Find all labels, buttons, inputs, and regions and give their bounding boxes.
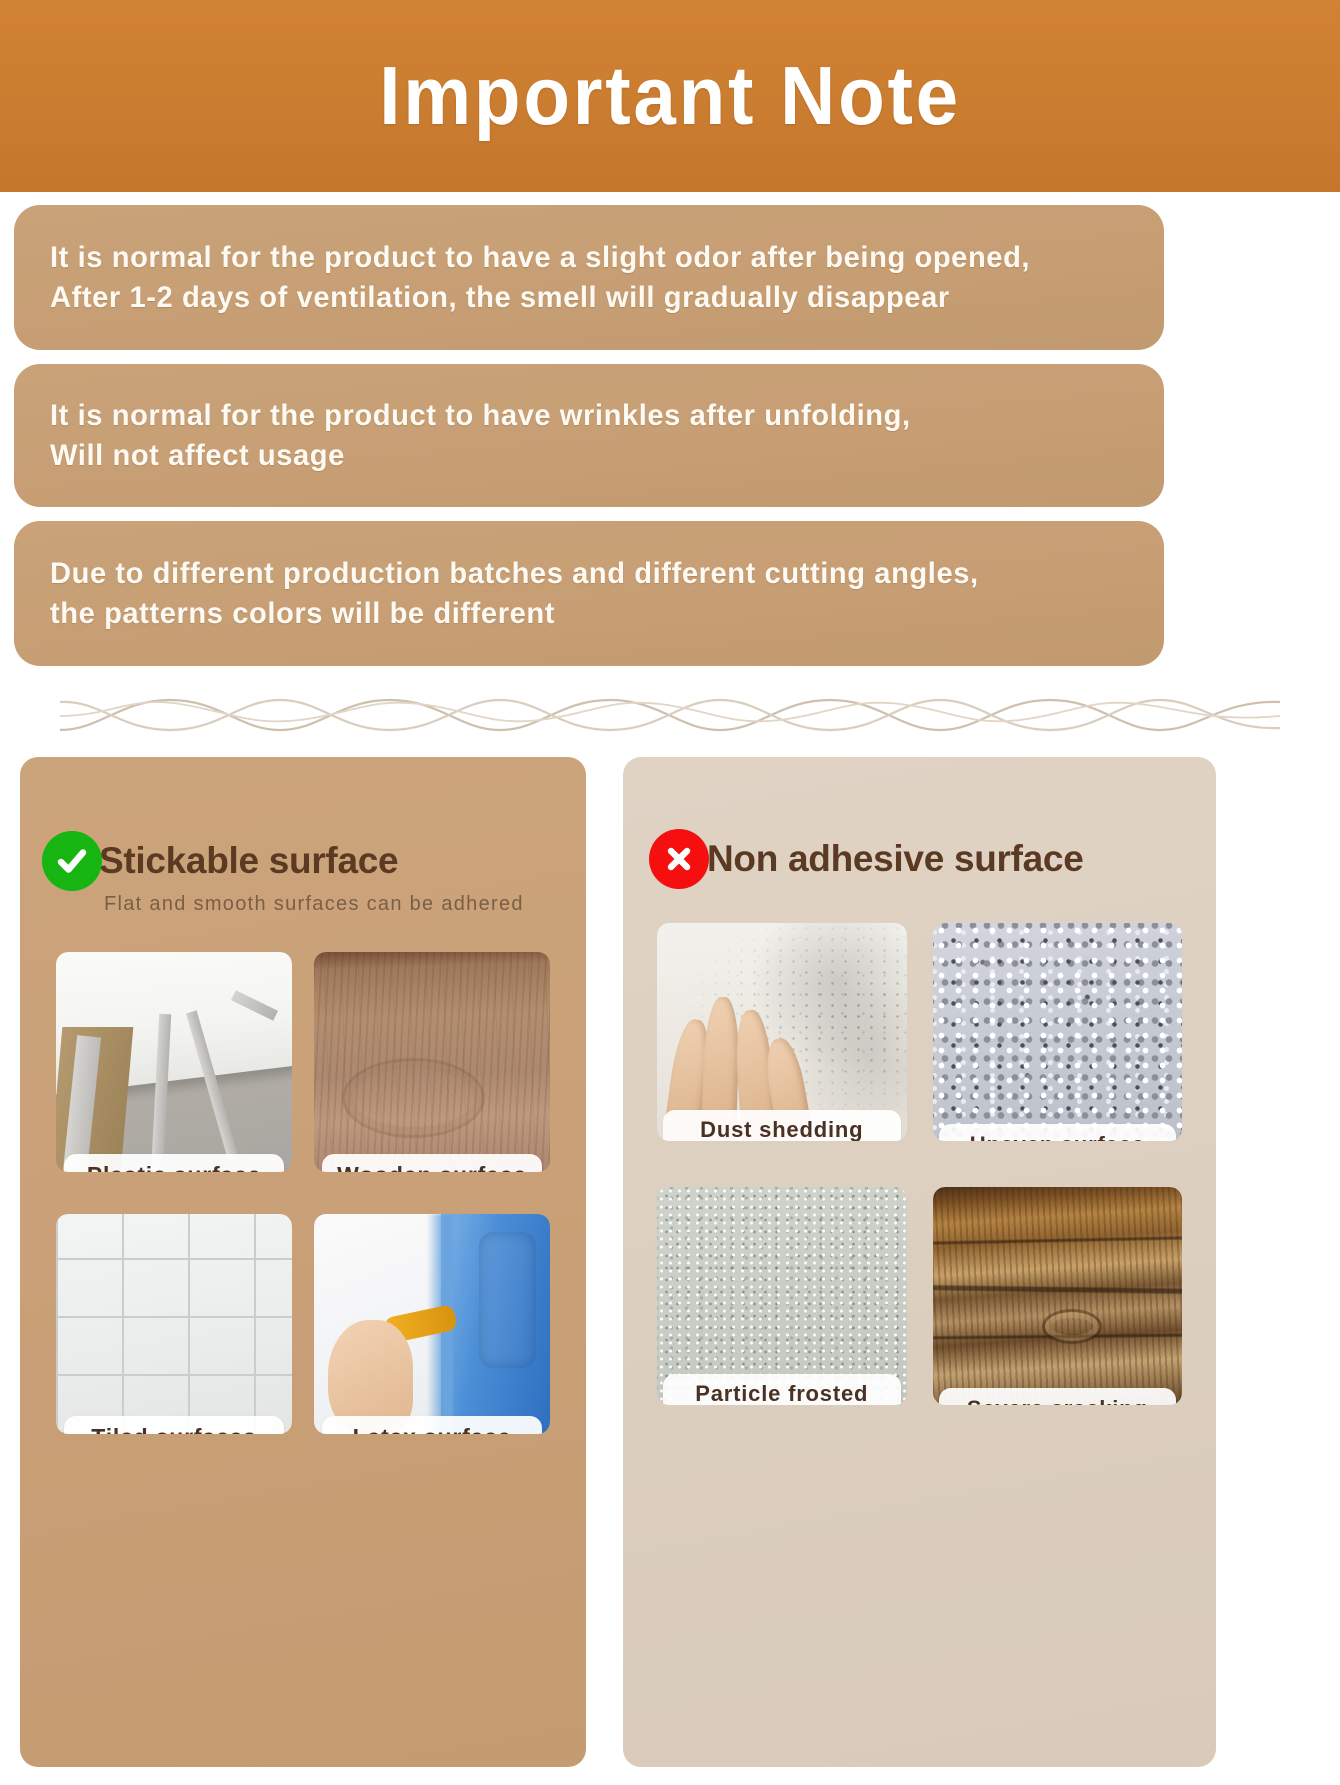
note-line: It is normal for the product to have a s… xyxy=(50,238,1098,278)
plastic-table-photo xyxy=(56,952,292,1172)
non-adhesive-panel-header: Non adhesive surface xyxy=(623,757,1216,889)
stickable-tile-grid: Plastic surface Wooden surface Tiled sur… xyxy=(20,916,586,1434)
non-adhesive-tile-grid: Dust shedding surface Uneven surface Par… xyxy=(623,889,1216,1405)
note-card: Due to different production batches and … xyxy=(14,521,1164,666)
surface-tile[interactable]: Dust shedding surface xyxy=(657,923,907,1141)
tile-label: Dust shedding surface xyxy=(663,1110,901,1141)
wood-grain-photo xyxy=(314,952,550,1172)
page-title: Important Note xyxy=(379,48,961,144)
note-line: It is normal for the product to have wri… xyxy=(50,396,1098,436)
dusty-wall-hand-photo xyxy=(657,923,907,1141)
cross-circle-icon xyxy=(649,829,709,889)
note-line: Due to different production batches and … xyxy=(50,554,1098,594)
cracked-wood-photo xyxy=(933,1187,1183,1405)
stickable-surface-panel: Stickable surface Flat and smooth surfac… xyxy=(20,757,586,1767)
surface-tile[interactable]: Latex surface xyxy=(314,1214,550,1434)
tile-label: Particle frosted surface xyxy=(663,1374,901,1405)
surface-tile[interactable]: Severe cracking xyxy=(933,1187,1183,1405)
note-card-list: It is normal for the product to have a s… xyxy=(14,205,1326,680)
important-note-page: Important Note It is normal for the prod… xyxy=(0,0,1340,1785)
non-adhesive-panel-title: Non adhesive surface xyxy=(707,838,1083,880)
stickable-panel-subtitle: Flat and smooth surfaces can be adhered xyxy=(104,893,586,916)
note-card: It is normal for the product to have a s… xyxy=(14,205,1164,350)
note-card: It is normal for the product to have wri… xyxy=(14,364,1164,507)
frosted-particle-photo xyxy=(657,1187,907,1405)
white-tile-photo xyxy=(56,1214,292,1434)
non-adhesive-surface-panel: Non adhesive surface Dust shedding surfa… xyxy=(623,757,1216,1767)
tile-label: Uneven surface xyxy=(939,1124,1177,1141)
note-line: the patterns colors will be different xyxy=(50,594,1098,634)
check-circle-icon xyxy=(42,831,102,891)
stickable-panel-title: Stickable surface xyxy=(99,840,398,882)
surface-tile[interactable]: Tiled surfaces xyxy=(56,1214,292,1434)
paint-roller-photo xyxy=(314,1214,550,1434)
tile-label: Tiled surfaces xyxy=(64,1416,284,1434)
surface-tile[interactable]: Uneven surface xyxy=(933,923,1183,1141)
rough-stone-photo xyxy=(933,923,1183,1141)
tile-label: Severe cracking xyxy=(939,1388,1177,1405)
note-line: Will not affect usage xyxy=(50,436,1098,476)
surface-tile[interactable]: Plastic surface xyxy=(56,952,292,1172)
header-banner: Important Note xyxy=(0,0,1340,192)
surface-comparison: Stickable surface Flat and smooth surfac… xyxy=(20,757,1320,1767)
surface-tile[interactable]: Particle frosted surface xyxy=(657,1187,907,1405)
wave-divider-ornament xyxy=(60,690,1280,750)
stickable-panel-header: Stickable surface xyxy=(20,757,586,891)
tile-label: Wooden surface xyxy=(322,1154,542,1172)
note-line: After 1-2 days of ventilation, the smell… xyxy=(50,278,1098,318)
surface-tile[interactable]: Wooden surface xyxy=(314,952,550,1172)
tile-label: Plastic surface xyxy=(64,1154,284,1172)
tile-label: Latex surface xyxy=(322,1416,542,1434)
